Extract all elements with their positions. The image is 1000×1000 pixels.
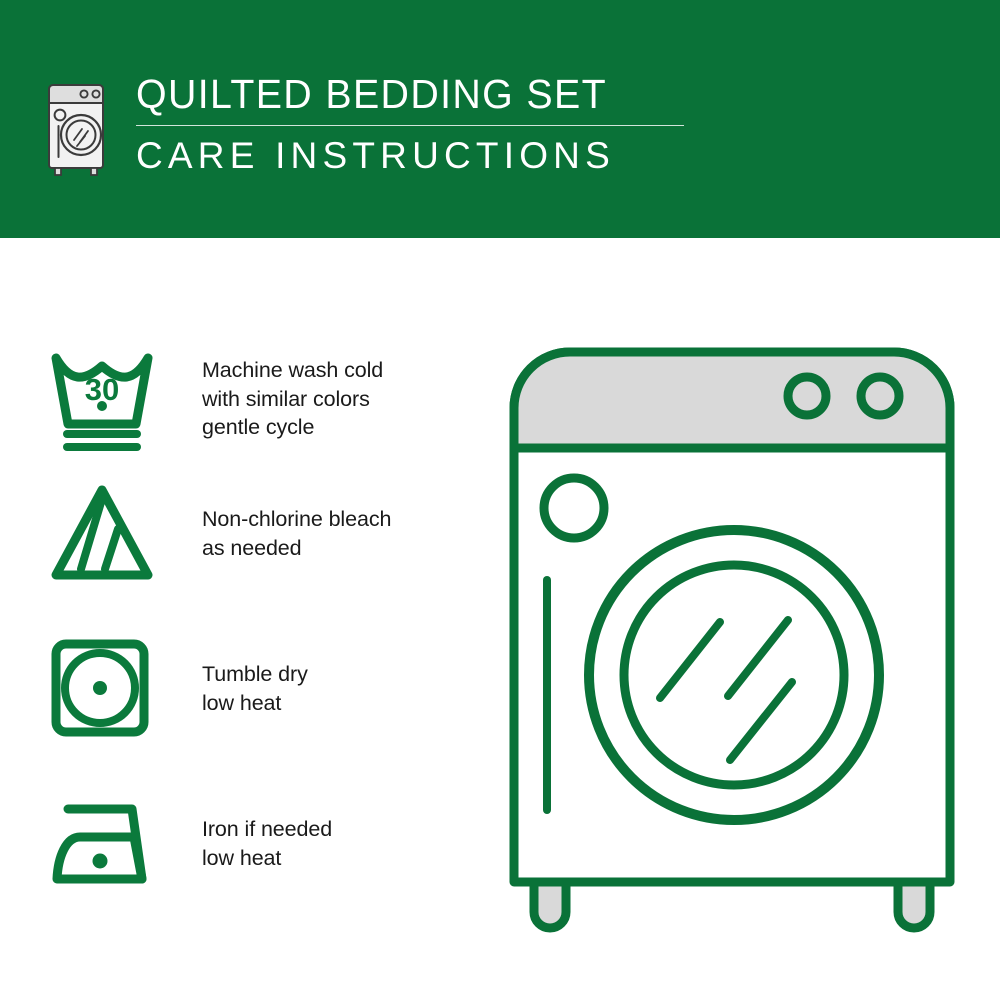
page-title: QUILTED BEDDING SET <box>136 70 693 118</box>
wash-tub-30-icon: 30 <box>50 348 154 461</box>
header-title-block: QUILTED BEDDING SET CARE INSTRUCTIONS <box>136 70 716 177</box>
care-text-wash: Machine wash cold with similar colors ge… <box>202 356 383 442</box>
bleach-triangle-icon <box>50 483 154 588</box>
care-instructions-infographic: QUILTED BEDDING SET CARE INSTRUCTIONS 30 <box>0 0 1000 1000</box>
page-subtitle: CARE INSTRUCTIONS <box>136 135 716 177</box>
care-text-tumble-dry: Tumble dry low heat <box>202 660 308 717</box>
header-banner: QUILTED BEDDING SET CARE INSTRUCTIONS <box>0 0 1000 238</box>
care-text-iron: Iron if needed low heat <box>202 815 332 872</box>
care-instruction-list: 30 Machine wash cold with similar colors… <box>0 238 480 1000</box>
title-divider <box>136 125 684 126</box>
front-load-washing-machine-illustration <box>492 330 972 940</box>
washing-machine-icon <box>46 72 112 176</box>
care-text-bleach: Non-chlorine bleach as needed <box>202 505 391 562</box>
iron-icon <box>50 801 154 892</box>
tumble-dry-icon <box>50 638 150 743</box>
